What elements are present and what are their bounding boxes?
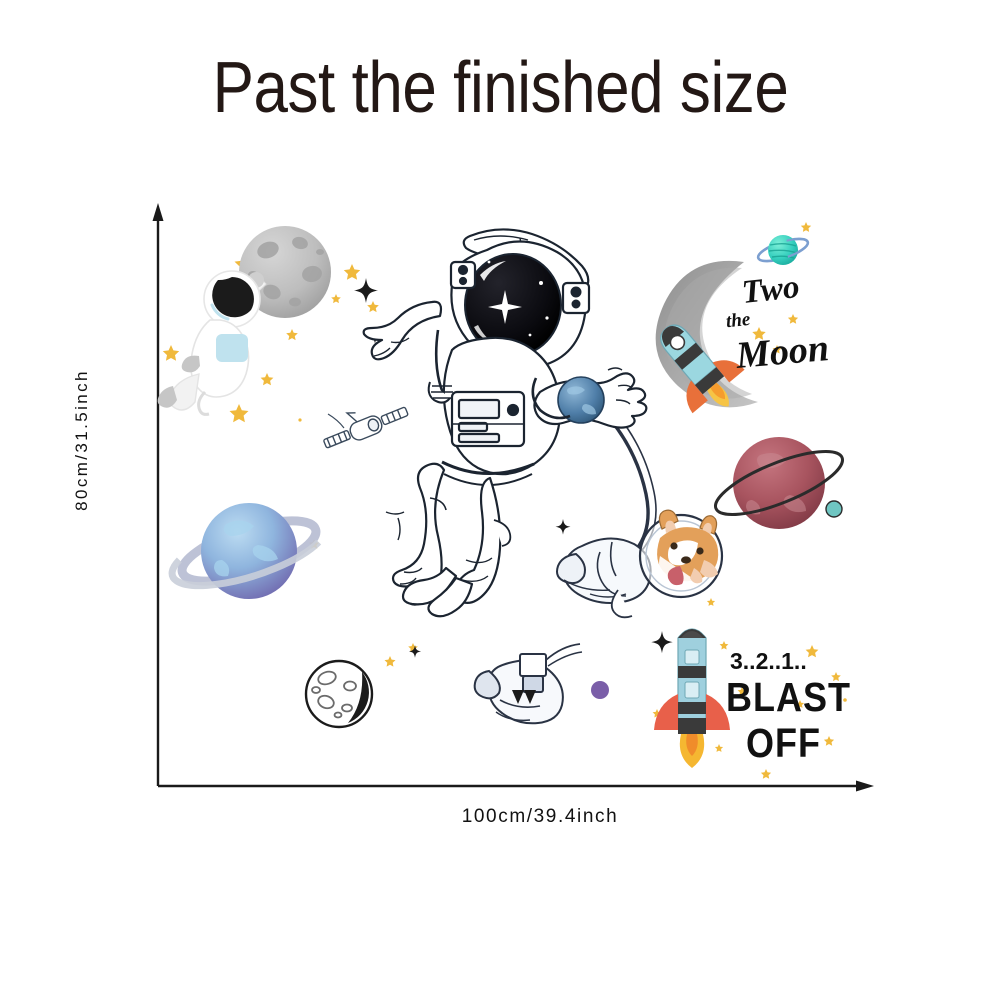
two-the-moon-lettering: Two the Moon xyxy=(726,272,856,382)
blastoff-countdown: 3..2..1.. xyxy=(730,648,807,675)
vertical-axis-arrowhead xyxy=(153,203,164,221)
purple-dot-planet xyxy=(591,681,609,699)
blastoff-line2: OFF xyxy=(746,720,821,767)
blast-off-lettering: 3..2..1.. BLAST OFF xyxy=(728,648,858,758)
blue-ringed-planet xyxy=(168,503,322,600)
vertical-size-label: 80cm/31.5inch xyxy=(72,340,92,540)
blastoff-line1: BLAST xyxy=(726,674,851,721)
lander xyxy=(475,644,582,723)
satellite xyxy=(317,392,410,453)
two-the-moon-line1: Two xyxy=(740,269,801,312)
teal-ringed-planet xyxy=(756,234,810,265)
small-astronaut xyxy=(158,271,266,414)
horizontal-size-label: 100cm/39.4inch xyxy=(380,806,700,828)
corgi-astronaut xyxy=(557,510,722,617)
red-ringed-planet xyxy=(708,437,849,529)
decal-artwork: Two the Moon 3..2..1.. BLAST OFF xyxy=(0,0,1001,1001)
two-the-moon-line2: the xyxy=(725,309,751,333)
poster-root: Past the finished size xyxy=(0,0,1001,1001)
horizontal-axis-arrowhead xyxy=(856,781,874,792)
two-the-moon-line3: Moon xyxy=(734,326,830,378)
artwork-svg xyxy=(0,0,1001,1001)
small-moon xyxy=(306,661,372,727)
